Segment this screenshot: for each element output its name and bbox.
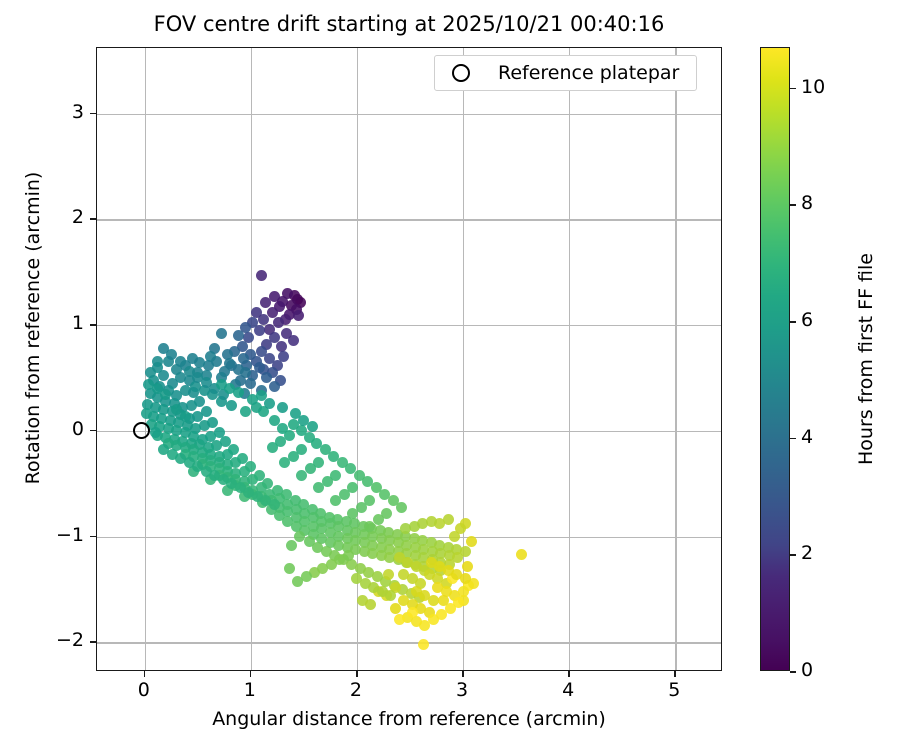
x-tick-label: 1: [220, 679, 280, 701]
x-tick: [356, 671, 358, 677]
colorbar-tick-label: 10: [801, 76, 825, 98]
legend-label: Reference platepar: [498, 62, 685, 84]
scatter-point: [216, 328, 227, 339]
legend: Reference platepar: [434, 55, 697, 91]
plot-area: [96, 47, 722, 671]
y-tick: [90, 113, 96, 115]
y-tick-label: −2: [40, 629, 84, 651]
colorbar-tick: [790, 204, 796, 206]
figure-canvas: FOV centre drift starting at 2025/10/21 …: [0, 0, 900, 750]
colorbar-gradient: [760, 47, 790, 671]
colorbar-label: Hours from first FF file: [855, 47, 877, 671]
scatter-point: [438, 595, 449, 606]
scatter-point: [365, 599, 376, 610]
scatter-point: [240, 406, 251, 417]
colorbar-tick: [790, 438, 796, 440]
y-tick: [90, 641, 96, 643]
scatter-point: [277, 402, 288, 413]
scatter-point: [269, 381, 280, 392]
x-tick: [568, 671, 570, 677]
scatter-point: [245, 378, 256, 389]
scatter-point: [458, 586, 469, 597]
x-tick: [462, 671, 464, 677]
scatter-point: [396, 502, 407, 513]
scatter-point: [264, 398, 275, 409]
x-tick-label: 5: [644, 679, 704, 701]
colorbar-tick-label: 4: [801, 426, 813, 448]
colorbar-tick: [790, 321, 796, 323]
x-tick: [674, 671, 676, 677]
colorbar-tick: [790, 671, 796, 673]
scatter-point: [428, 595, 439, 606]
scatter-point: [407, 607, 418, 618]
y-tick-label: 0: [40, 418, 84, 440]
scatter-point: [394, 614, 405, 625]
scatter-point: [256, 270, 267, 281]
scatter-point: [286, 540, 297, 551]
scatter-point: [453, 597, 464, 608]
scatter-point: [364, 521, 375, 532]
page-title: FOV centre drift starting at 2025/10/21 …: [96, 12, 722, 36]
scatter-point: [385, 590, 396, 601]
scatter-point: [184, 366, 195, 377]
scatter-point: [330, 495, 341, 506]
scatter-layer: [97, 48, 721, 670]
scatter-point: [251, 307, 262, 318]
x-tick-label: 2: [326, 679, 386, 701]
scatter-point: [449, 531, 460, 542]
scatter-point: [418, 639, 429, 650]
scatter-point: [347, 508, 358, 519]
x-tick-label: 4: [538, 679, 598, 701]
x-axis-label: Angular distance from reference (arcmin): [96, 708, 722, 730]
y-tick-label: 2: [40, 206, 84, 228]
y-tick-label: −1: [40, 524, 84, 546]
scatter-point: [233, 330, 244, 341]
y-tick: [90, 430, 96, 432]
scatter-point: [292, 576, 303, 587]
reference-platepar-marker-icon: [452, 64, 470, 82]
scatter-point: [296, 470, 307, 481]
scatter-point: [276, 341, 287, 352]
scatter-point: [400, 523, 411, 534]
scatter-point: [390, 603, 401, 614]
scatter-point: [313, 482, 324, 493]
scatter-point: [226, 400, 237, 411]
scatter-point: [279, 457, 290, 468]
scatter-point: [426, 557, 437, 568]
y-tick: [90, 536, 96, 538]
scatter-point: [175, 356, 186, 367]
scatter-point: [516, 549, 527, 560]
y-tick-label: 3: [40, 101, 84, 123]
x-tick: [144, 671, 146, 677]
colorbar-tick: [790, 88, 796, 90]
scatter-point: [383, 569, 394, 580]
colorbar-tick-label: 8: [801, 192, 813, 214]
scatter-point: [307, 421, 318, 432]
x-tick: [250, 671, 252, 677]
y-tick-label: 1: [40, 312, 84, 334]
colorbar-tick: [790, 554, 796, 556]
colorbar-tick-label: 2: [801, 542, 813, 564]
scatter-point: [466, 536, 477, 547]
scatter-point: [284, 563, 295, 574]
colorbar: 0246810 Hours from first FF file: [760, 47, 890, 671]
scatter-point: [216, 379, 227, 390]
colorbar-tick-label: 6: [801, 309, 813, 331]
y-axis-label: Rotation from reference (arcmin): [22, 16, 44, 640]
scatter-point: [288, 335, 299, 346]
colorbar-tick-label: 0: [801, 659, 813, 681]
x-tick-label: 3: [432, 679, 492, 701]
scatter-point: [267, 442, 278, 453]
y-tick: [90, 324, 96, 326]
scatter-point: [462, 561, 473, 572]
y-tick: [90, 218, 96, 220]
x-tick-label: 0: [114, 679, 174, 701]
scatter-point: [145, 367, 156, 378]
scatter-point: [293, 310, 304, 321]
